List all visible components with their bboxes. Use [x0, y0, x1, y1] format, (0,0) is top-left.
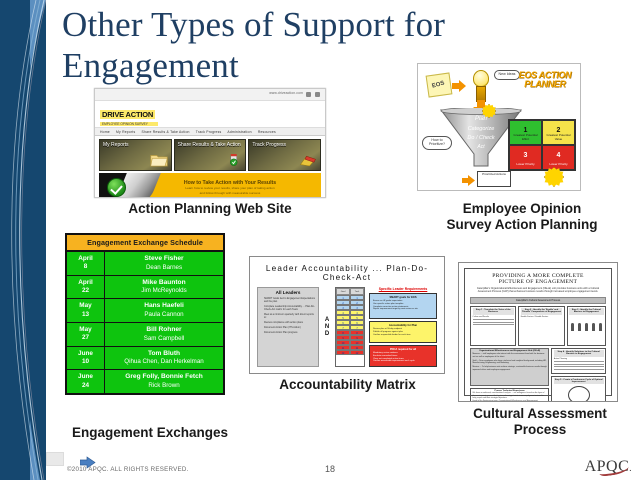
matrix-cell-4-number: 4	[543, 152, 574, 159]
banner-black-block	[99, 173, 145, 198]
svg-text:Do / Check: Do / Check	[467, 135, 494, 141]
orange-arrow-out-icon	[462, 175, 475, 186]
exchange-lead: Tom Bluth	[107, 350, 221, 359]
eos-survey-notes-icon	[426, 72, 453, 97]
apqc-logo-dot: .	[629, 463, 632, 473]
prioritized-actions-box: Prioritized Actions	[477, 171, 511, 187]
cultural-step-1-title: Step 1 - Translate the Voice of the Busi…	[473, 308, 514, 314]
exchange-month: May	[79, 302, 91, 309]
exchange-month: June	[78, 373, 93, 380]
apqc-logo: APQC.	[585, 458, 632, 476]
exchange-month: June	[78, 350, 93, 357]
grid-header-task: Task Completion	[350, 288, 364, 295]
panel-my-reports[interactable]: My Reports	[99, 139, 172, 171]
matrix-cell-2-label: Greatest Potential Value	[543, 133, 574, 141]
page-number: 18	[325, 464, 335, 474]
engagement-exchange-schedule-table: Engagement Exchange Schedule April 8 Ste…	[65, 233, 225, 395]
exchange-table-header: Engagement Exchange Schedule	[67, 235, 223, 252]
exchange-month: April	[78, 255, 93, 262]
cultural-step-1: Step 1 - Translate the Voice of the Busi…	[470, 306, 516, 346]
exchange-day: 13	[82, 311, 89, 318]
cultural-steps-row: Step 1 - Translate the Voice of the Busi…	[470, 306, 606, 346]
cultural-step-1-body: Culture and Results	[473, 316, 514, 318]
table-row: May 13 Hans Haefeli Paula Cannon	[67, 299, 223, 323]
exchange-names-cell: Tom Bluth Qihua Chen, Dan Herkelman	[105, 347, 223, 370]
svg-text:Categorize: Categorize	[468, 126, 495, 132]
cultural-process-bar: Caterpillar's Cultural Assessment Proces…	[470, 297, 606, 304]
banner-text: How to Take Action with Your Results Lea…	[145, 180, 321, 195]
exchange-second: Jim McReynolds	[107, 287, 221, 295]
swoosh-curves-icon	[0, 0, 46, 480]
caption-cultural-line1: Cultural Assessment	[450, 406, 630, 422]
goal-completion-grid: Goal Task Completion 11 22 33 44 55 66 7…	[335, 287, 365, 367]
exchange-second: Paula Cannon	[107, 311, 221, 319]
exchange-lead: Mike Baunton	[107, 279, 221, 288]
svg-text:Act: Act	[476, 144, 485, 150]
cultural-step-5: Step 5 - Create a Continuous Cycle of Op…	[551, 376, 606, 403]
and-letter-d: D	[325, 331, 329, 337]
exchange-lead: Hans Haefeli	[107, 302, 221, 311]
banner-sub2: and follow through with measurable succe…	[145, 191, 315, 196]
nav-item-my-reports[interactable]: My Reports	[116, 130, 135, 134]
cultural-step-2-body: Enable Factors / Disable Factors	[521, 316, 562, 318]
requirement-card-blue: SMART goals for EOS Ensure an 'A' grade …	[369, 293, 437, 319]
priority-matrix: 1 Greatest Potential Effort 2 Greatest P…	[508, 119, 576, 171]
site-nav-bar[interactable]: Home My Reports Share Results & Take Act…	[95, 127, 325, 136]
grid-row: 1212	[336, 350, 364, 355]
exchange-second: Dean Barnes	[107, 264, 221, 272]
exchange-date-cell: June 10	[67, 347, 105, 370]
caption-cultural-assessment-process: Cultural Assessment Process	[450, 406, 630, 438]
oee-unit-item: Measure — staff employees who interact w…	[473, 353, 547, 358]
exchange-names-cell: Steve Fisher Dean Barnes	[105, 252, 223, 275]
nav-item-administration[interactable]: Administration	[227, 130, 251, 134]
how-to-take-action-banner[interactable]: How to Take Action with Your Results Lea…	[99, 173, 321, 198]
exchange-day: 10	[82, 358, 89, 365]
cultural-step-3-title: Step 3 - Identify the Cultural Barriers …	[569, 308, 603, 314]
accountability-matrix-body: All Leaders SMART Goals tied to Engageme…	[250, 287, 444, 367]
nav-item-share-results[interactable]: Share Results & Take Action	[142, 130, 190, 134]
requirement-line: Confirm measurable improvement each cycl…	[373, 360, 433, 363]
requirement-card-red: PDCA required for all Mandatory review c…	[369, 345, 437, 367]
table-row: June 10 Tom Bluth Qihua Chen, Dan Herkel…	[67, 347, 223, 371]
nav-item-resources[interactable]: Resources	[258, 130, 276, 134]
exchange-date-cell: May 27	[67, 323, 105, 346]
and-connector: A N D	[323, 287, 331, 367]
cultural-step-2: Step 2 - Identify the 'Enable' and 'Disa…	[518, 306, 564, 346]
eos-action-planner-graphic: New Ideas EOS ACTION PLANNER Plan Catego…	[417, 63, 581, 191]
accountability-matrix-graphic: Leader Accountability ... Plan-Do-Check-…	[249, 256, 445, 374]
continuous-cycle-icon	[568, 386, 590, 402]
requirement-card-yellow-title: Accountability for Plan	[373, 324, 433, 327]
nav-item-home[interactable]: Home	[100, 130, 110, 134]
exchange-day: 8	[84, 263, 88, 270]
matrix-cell-1-label: Greatest Potential Effort	[510, 133, 541, 141]
eos-planner-title: EOS ACTION PLANNER	[516, 71, 574, 88]
exchange-names-cell: Bill Rohner Sam Campbell	[105, 323, 223, 346]
cloud-new-ideas-text: New Ideas	[499, 72, 516, 76]
cultural-doc-title-line2: PICTURE OF ENGAGEMENT	[470, 279, 606, 285]
caption-employee-opinion-survey: Employee Opinion Survey Action Planning	[412, 201, 632, 233]
cultural-doc-inner-frame: PROVIDING A MORE COMPLETE PICTURE OF ENG…	[464, 268, 612, 396]
browser-star-icon	[306, 92, 311, 97]
dashboard-panels: My Reports Share Results & Take Action T…	[95, 136, 325, 173]
quote-attribution: Head of the Engineering team, Organizati…	[473, 400, 547, 402]
exchange-day: 27	[82, 334, 89, 341]
browser-menu-icon	[315, 92, 320, 97]
oee-unit-title: Organizational Effectiveness and Engagem…	[473, 350, 547, 352]
exchange-date-cell: April 8	[67, 252, 105, 275]
matrix-cell-3-number: 3	[510, 152, 541, 159]
grid-cell: 12	[350, 350, 364, 355]
specific-leader-requirements: Specific Leader Requirements SMART goals…	[369, 287, 437, 367]
all-leaders-item: Document Action Plan (ITS Action)	[260, 326, 316, 329]
folder-icon	[150, 152, 168, 168]
matrix-cell-3-label: Lower Priority	[510, 162, 541, 166]
drive-action-logo-area: DRIVE ACTION EMPLOYEE OPINION SURVEY	[95, 101, 325, 127]
grid-cell: 12	[336, 350, 350, 355]
caption-cultural-line2: Process	[450, 422, 630, 438]
blue-arrow-icon	[80, 456, 96, 469]
matrix-cell-4-label: Lower Priority	[543, 162, 574, 166]
exchange-date-cell: May 13	[67, 299, 105, 322]
exchange-second: Sam Campbell	[107, 335, 221, 343]
requirement-line: Report improvement target by next review…	[373, 308, 433, 311]
quote-body: We have an unbiased, non-functional anal…	[473, 392, 547, 400]
table-row: May 27 Bill Rohner Sam Campbell	[67, 323, 223, 347]
caption-engagement-exchanges: Engagement Exchanges	[45, 425, 255, 441]
and-letter-a: A	[325, 317, 329, 323]
matrix-cell-4: 4 Lower Priority	[542, 145, 575, 170]
exchange-second: Qihua Chen, Dan Herkelman	[107, 358, 221, 366]
matrix-cell-1: 1 Greatest Potential Effort	[509, 120, 542, 145]
cloud-how-to-prioritize-text: How to Prioritize?	[429, 138, 445, 146]
panel-share-results[interactable]: Share Results & Take Action	[174, 139, 247, 171]
browser-address-bar: www.driveaction.com	[95, 89, 325, 101]
drive-action-logo: DRIVE ACTION	[100, 110, 155, 119]
cultural-doc-subtitle: Caterpillar's Organizational Effectivene…	[470, 287, 606, 294]
cultural-left-column: Organizational Effectiveness and Engagem…	[470, 348, 549, 386]
cultural-step-4-title: Step 4 - Identify Solutions to the Cultu…	[554, 350, 604, 356]
all-leaders-item: Meet at a minimum quarterly with direct …	[260, 313, 316, 319]
panel-my-reports-title: My Reports	[103, 142, 129, 148]
requirement-line: Confirm responsible leader for each item	[373, 334, 433, 337]
cultural-assessment-process-document: PROVIDING A MORE COMPLETE PICTURE OF ENG…	[458, 262, 618, 402]
all-leaders-item: Complete Leadership Accountability ... P…	[260, 305, 316, 311]
exchange-day: 24	[82, 382, 89, 389]
table-row: April 8 Steve Fisher Dean Barnes	[67, 252, 223, 276]
exchange-date-cell: June 24	[67, 370, 105, 393]
cultural-step-2-title: Step 2 - Identify the 'Enable' and 'Disa…	[521, 308, 562, 314]
exchange-date-cell: April 22	[67, 276, 105, 299]
caption-eos-line2: Survey Action Planning	[412, 217, 632, 233]
all-leaders-item: Review compliance with action plans	[260, 321, 316, 324]
caption-eos-line1: Employee Opinion	[412, 201, 632, 217]
all-leaders-header: All Leaders	[260, 290, 316, 295]
exchange-lead: Bill Rohner	[107, 326, 221, 335]
exchange-lead: Steve Fisher	[107, 255, 221, 264]
requirement-card-blue-title: SMART goals for EOS	[373, 296, 433, 299]
cultural-right-column: Step 4 - Identify Solutions to the Cultu…	[551, 348, 606, 386]
panel-track-progress[interactable]: Track Progress	[248, 139, 321, 171]
all-leaders-item: Document Action Plan progress	[260, 331, 316, 334]
slide-left-decoration	[0, 0, 46, 480]
green-check-icon	[107, 178, 126, 197]
table-row: June 24 Greg Folly, Bonnie Fetch Rick Br…	[67, 370, 223, 393]
exchange-lead: Greg Folly, Bonnie Fetch	[107, 373, 221, 382]
chart-icon	[299, 152, 317, 168]
exchange-month: April	[78, 279, 93, 286]
grid-header-goal: Goal	[336, 288, 350, 295]
orange-arrow-right-icon	[452, 80, 466, 92]
matrix-cell-2: 2 Greatest Potential Value	[542, 120, 575, 145]
browser-url-text: www.driveaction.com	[269, 91, 303, 95]
exchange-month: May	[79, 326, 91, 333]
exchange-day: 22	[82, 287, 89, 294]
caption-action-planning-web-site: Action Planning Web Site	[94, 201, 326, 217]
exchange-names-cell: Mike Baunton Jim McReynolds	[105, 276, 223, 299]
cultural-step-4-diagram	[554, 361, 604, 370]
drive-action-tagline: EMPLOYEE OPINION SURVEY	[100, 122, 158, 126]
prioritized-actions-text: Prioritized Actions	[482, 172, 506, 176]
slide-title-line1: Other Types of Support for	[62, 4, 532, 45]
exchange-second: Rick Brown	[107, 382, 221, 390]
cloud-how-to-prioritize: How to Prioritize?	[422, 136, 452, 150]
all-leaders-item: SMART Goals tied to Engagement Expectati…	[260, 297, 316, 303]
caption-accountability-matrix: Accountability Matrix	[245, 377, 450, 393]
exchange-names-cell: Greg Folly, Bonnie Fetch Rick Brown	[105, 370, 223, 393]
oee-unit-item: Staff — Drive employees who have a techn…	[473, 360, 547, 365]
cultural-step-3: Step 3 - Identify the Cultural Barriers …	[567, 306, 606, 346]
panel-track-progress-title: Track Progress	[252, 142, 286, 148]
people-group-icon	[569, 317, 603, 331]
table-row: April 22 Mike Baunton Jim McReynolds	[67, 276, 223, 300]
action-planning-web-site-screenshot: www.driveaction.com DRIVE ACTION EMPLOYE…	[94, 88, 326, 198]
cultural-step-1-diagram	[473, 319, 514, 325]
megaphone-icon	[224, 152, 242, 168]
cultural-step-5-title: Step 5 - Create a Continuous Cycle of Op…	[554, 378, 604, 384]
grid-header-row: Goal Task Completion	[336, 288, 364, 295]
cultural-lower-row: Organizational Effectiveness and Engagem…	[470, 348, 606, 386]
oee-unit-item: Mission — To help business units achieve…	[473, 366, 547, 371]
all-leaders-panel: All Leaders SMART Goals tied to Engageme…	[257, 287, 319, 367]
lightbulb-icon	[473, 70, 489, 87]
panel-share-results-title: Share Results & Take Action	[178, 142, 241, 148]
and-letter-n: N	[325, 324, 329, 330]
nav-item-track-progress[interactable]: Track Progress	[196, 130, 222, 134]
specific-leader-requirements-label: Specific Leader Requirements	[369, 287, 437, 291]
oee-unit-block: Organizational Effectiveness and Engagem…	[470, 348, 549, 386]
matrix-cell-3: 3 Lower Priority	[509, 145, 542, 170]
apqc-logo-text: APQC	[585, 458, 630, 475]
exchange-names-cell: Hans Haefeli Paula Cannon	[105, 299, 223, 322]
cultural-step-4: Step 4 - Identify Solutions to the Cultu…	[551, 348, 606, 374]
cultural-step-4-body: Action Planning	[554, 358, 604, 360]
footer-placeholder-block	[46, 452, 64, 466]
accountability-matrix-title: Leader Accountability ... Plan-Do-Check-…	[250, 257, 444, 287]
requirement-card-red-title: PDCA required for all	[373, 348, 433, 351]
proven-technical-experience-block: Proven Technical Experience We have an u…	[470, 388, 549, 402]
requirement-card-yellow: Accountability for Plan Review plan at 9…	[369, 321, 437, 343]
